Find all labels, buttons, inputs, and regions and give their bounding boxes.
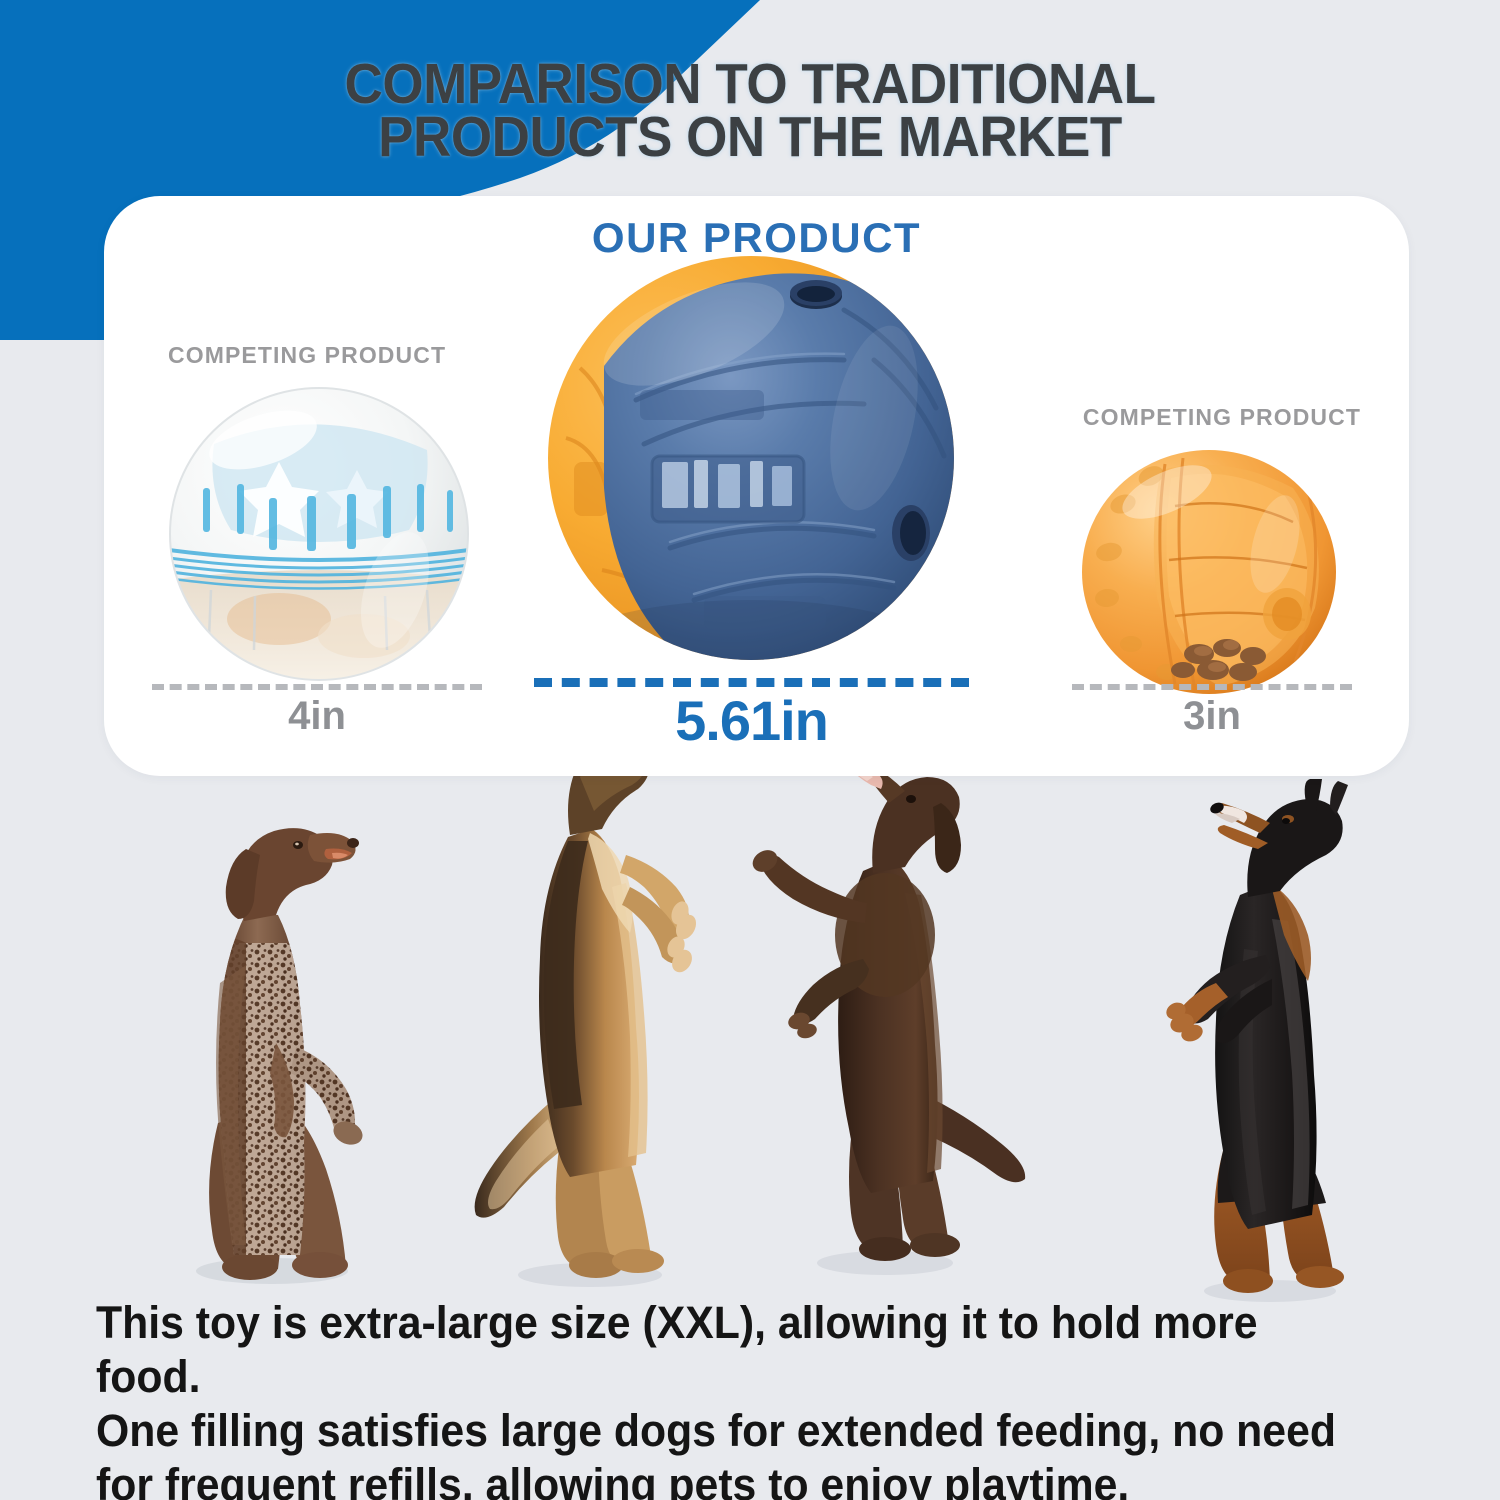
footer-line-3: for frequent refills, allowing pets to e… (96, 1458, 1360, 1500)
comparison-card: OUR PRODUCT COMPETING PRODUCT COMPETING … (104, 196, 1409, 776)
page-title: COMPARISON TO TRADITIONAL PRODUCTS ON TH… (0, 58, 1500, 164)
measurement-value-right: 3in (1072, 696, 1352, 736)
product-image-competing-right (1079, 448, 1339, 696)
dog-image-chocolate-labrador (745, 763, 1055, 1288)
measurement-value-center: 5.61in (534, 693, 969, 749)
infographic-root: COMPARISON TO TRADITIONAL PRODUCTS ON TH… (0, 0, 1500, 1500)
competing-product-label-right: COMPETING PRODUCT (1083, 404, 1361, 431)
measurement-dash-line-right (1072, 684, 1352, 690)
title-line-1: COMPARISON TO TRADITIONAL (53, 58, 1448, 111)
dog-image-german-shorthaired-pointer (150, 793, 420, 1298)
product-image-our-product (544, 248, 959, 668)
footer-line-1: This toy is extra-large size (XXL), allo… (96, 1296, 1360, 1404)
footer-line-2: One filling satisfies large dogs for ext… (96, 1404, 1360, 1458)
footer-description: This toy is extra-large size (XXL), allo… (96, 1296, 1360, 1500)
product-image-competing-left (159, 384, 479, 684)
competing-product-label-left: COMPETING PRODUCT (168, 342, 446, 369)
measurement-competing-right: 3in (1072, 684, 1352, 736)
title-line-2: PRODUCTS ON THE MARKET (53, 111, 1448, 164)
measurement-value-left: 4in (152, 696, 482, 736)
measurement-our-product: 5.61in (534, 678, 969, 749)
dog-image-german-shepherd (430, 737, 720, 1302)
measurement-competing-left: 4in (152, 684, 482, 736)
dog-photo-row (0, 740, 1500, 1320)
our-product-label: OUR PRODUCT (104, 214, 1409, 262)
measurement-dash-line-center (534, 678, 969, 687)
measurement-dash-line-left (152, 684, 482, 690)
dog-image-doberman (1120, 779, 1420, 1314)
